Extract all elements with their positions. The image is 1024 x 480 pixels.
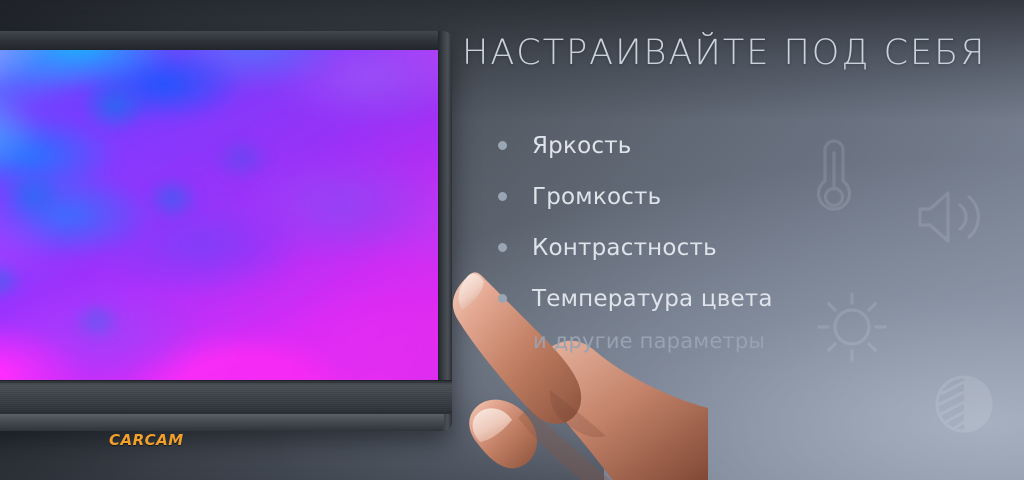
list-item: Яркость bbox=[498, 120, 773, 171]
bullet-dot-icon bbox=[498, 243, 507, 252]
monitor-stand-foot bbox=[0, 414, 444, 431]
monitor-screen[interactable] bbox=[0, 50, 438, 380]
settings-list: Яркость Громкость Контрастность Температ… bbox=[498, 120, 773, 324]
monitor-device: CARCAM bbox=[0, 31, 452, 431]
brand-logo: CARCAM bbox=[109, 431, 184, 449]
bullet-dot-icon bbox=[498, 192, 507, 201]
list-item: Громкость bbox=[498, 171, 773, 222]
monitor-bottom-bezel bbox=[0, 380, 452, 414]
list-item: Контрастность bbox=[498, 222, 773, 273]
list-item-label: Температура цвета bbox=[532, 286, 773, 312]
screen-glass-reflection bbox=[0, 50, 438, 380]
list-item-label: Контрастность bbox=[532, 235, 717, 261]
list-item-label: Громкость bbox=[532, 184, 661, 210]
list-item-label: Яркость bbox=[532, 133, 632, 159]
footnote-text: и другие параметры bbox=[533, 329, 765, 353]
bullet-dot-icon bbox=[498, 294, 507, 303]
promo-banner: CARCAM bbox=[0, 0, 1024, 480]
bullet-dot-icon bbox=[498, 141, 507, 150]
list-item: Температура цвета bbox=[498, 273, 773, 324]
monitor-top-bezel bbox=[0, 31, 452, 50]
page-title: НАСТРАИВАЙТЕ ПОД СЕБЯ bbox=[462, 33, 987, 73]
